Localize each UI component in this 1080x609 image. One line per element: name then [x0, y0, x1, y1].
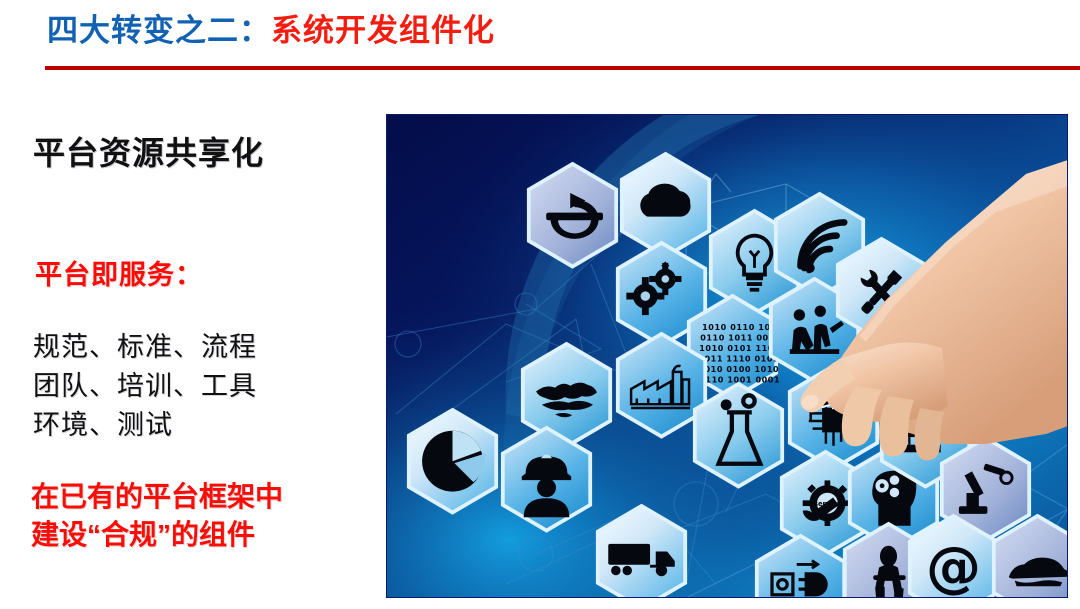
svg-text:service: service: [814, 500, 841, 508]
page-title: 四大转变之二：系统开发组件化: [47, 14, 495, 48]
resource-list: 规范、标准、流程 团队、培训、工具 环境、测试: [33, 328, 257, 445]
list-item: 环境、测试: [33, 406, 257, 445]
list-item: 规范、标准、流程: [33, 328, 257, 367]
svg-text:1010 0100 1010: 1010 0100 1010: [698, 365, 779, 374]
paas-label: 平台即服务：: [35, 253, 203, 292]
closing-note-line: 建设“合规”的组件: [31, 516, 283, 554]
at-sign-icon: @: [926, 535, 981, 598]
svg-text:@: @: [926, 535, 981, 598]
page-title-prefix: 四大转变之二：: [47, 13, 271, 48]
illustration-svg: 1010 0110 1001 0110 1011 0010 1010 0101 …: [386, 114, 1068, 598]
left-text-column: 平台资源共享化 平台即服务： 规范、标准、流程 团队、培训、工具 环境、测试 在…: [0, 110, 380, 600]
closing-note: 在已有的平台框架中 建设“合规”的组件: [31, 478, 283, 554]
svg-text:0011 1110 0101: 0011 1110 0101: [698, 354, 779, 363]
page-title-main: 系统开发组件化: [271, 13, 495, 48]
concept-illustration: 1010 0110 1001 0110 1011 0010 1010 0101 …: [386, 114, 1068, 598]
list-item: 团队、培训、工具: [33, 367, 257, 406]
closing-note-line: 在已有的平台框架中: [31, 478, 283, 516]
title-divider: [45, 66, 1080, 70]
svg-text:1010 0101 1101: 1010 0101 1101: [699, 344, 780, 353]
section-subheading: 平台资源共享化: [33, 128, 264, 174]
